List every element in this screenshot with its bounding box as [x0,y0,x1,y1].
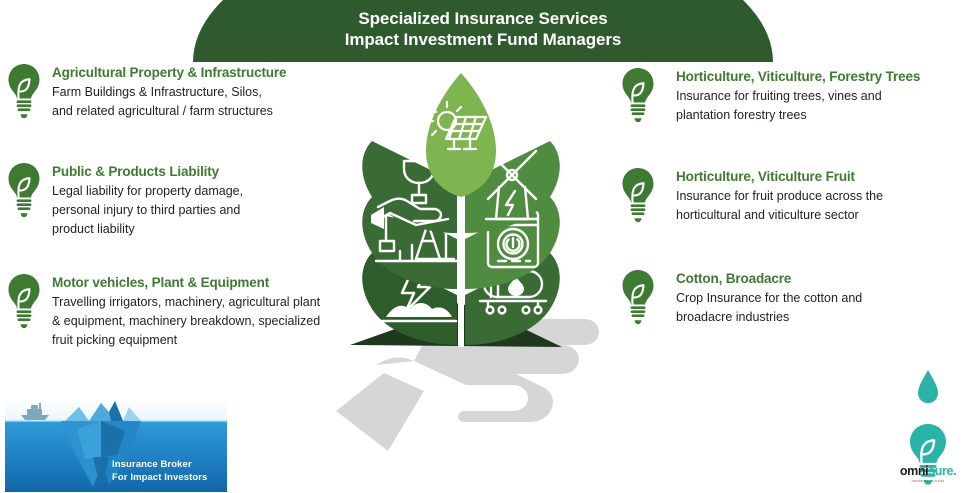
feature-title: Agricultural Property & Infrastructure [52,65,286,80]
feature-text: Public & Products Liability Legal liabil… [52,161,243,239]
lightbulb-leaf-icon [618,268,658,326]
feature-description-line: personal injury to third parties and [52,201,243,220]
page-title-line-1: Specialized Insurance Services [193,8,773,29]
feature-item-horticulture-viticulture-fruit[interactable]: Horticulture, Viticulture Fruit Insuranc… [618,166,883,225]
plant-diagram [316,55,606,475]
feature-description-line: Insurance for fruiting trees, vines and [676,87,920,106]
feature-description-line: and related agricultural / farm structur… [52,102,286,121]
iceberg-caption-line-1: Insurance Broker [112,458,207,471]
page-title: Specialized Insurance Services Impact In… [193,8,773,50]
feature-title: Motor vehicles, Plant & Equipment [52,275,269,290]
feature-description-line: & equipment, machinery breakdown, specia… [52,312,320,331]
feature-title: Public & Products Liability [52,164,219,179]
feature-item-cotton-broadacre[interactable]: Cotton, Broadacre Crop Insurance for the… [618,268,862,327]
feature-description-line: Legal liability for property damage, [52,182,243,201]
feature-text: Horticulture, Viticulture Fruit Insuranc… [666,166,883,225]
feature-description: Insurance for fruiting trees, vines and … [676,87,920,125]
feature-item-agricultural-property[interactable]: Agricultural Property & Infrastructure F… [4,62,286,121]
omnisure-tagline: insurance and risk [893,479,963,483]
feature-description: Insurance for fruit produce across the h… [676,187,883,225]
feature-item-motor-vehicles-plant-equipment[interactable]: Motor vehicles, Plant & Equipment Travel… [4,272,320,350]
feature-item-horticulture-forestry-trees[interactable]: Horticulture, Viticulture, Forestry Tree… [618,66,920,125]
omnisure-word-sure: sure. [928,464,956,478]
feature-description-line: Farm Buildings & Infrastructure, Silos, [52,83,286,102]
feature-title: Horticulture, Viticulture, Forestry Tree… [676,69,920,84]
feature-description-line: product liability [52,220,243,239]
feature-text: Cotton, Broadacre Crop Insurance for the… [666,268,862,327]
lightbulb-leaf-icon [4,161,44,219]
lightbulb-leaf-icon [618,166,658,224]
feature-description: Crop Insurance for the cotton and broada… [676,289,862,327]
feature-description: Farm Buildings & Infrastructure, Silos, … [52,83,286,121]
feature-text: Motor vehicles, Plant & Equipment Travel… [52,272,320,350]
feature-text: Agricultural Property & Infrastructure F… [52,62,286,121]
feature-description-line: plantation forestry trees [676,106,920,125]
lightbulb-leaf-icon [618,66,658,124]
feature-description-line: horticultural and viticulture sector [676,206,883,225]
feature-description-line: Crop Insurance for the cotton and [676,289,862,308]
feature-description-line: fruit picking equipment [52,331,320,350]
iceberg-caption-line-2: For Impact Investors [112,471,207,484]
lightbulb-leaf-icon [4,62,44,120]
feature-description: Legal liability for property damage, per… [52,182,243,239]
feature-title: Cotton, Broadacre [676,271,791,286]
feature-description: Travelling irrigators, machinery, agricu… [52,293,320,350]
feature-description-line: broadacre industries [676,308,862,327]
feature-description-line: Travelling irrigators, machinery, agricu… [52,293,320,312]
feature-text: Horticulture, Viticulture, Forestry Tree… [666,66,920,125]
omnisure-wordmark: omnisure. [893,465,963,478]
feature-item-public-products-liability[interactable]: Public & Products Liability Legal liabil… [4,161,243,239]
leaf-drop-icon [918,370,938,403]
omnisure-word-omni: omni [900,464,928,478]
iceberg-logo-caption: Insurance Broker For Impact Investors [112,458,207,484]
page-title-line-2: Impact Investment Fund Managers [193,29,773,50]
feature-description-line: Insurance for fruit produce across the [676,187,883,206]
feature-title: Horticulture, Viticulture Fruit [676,169,855,184]
lightbulb-leaf-icon [4,272,44,330]
